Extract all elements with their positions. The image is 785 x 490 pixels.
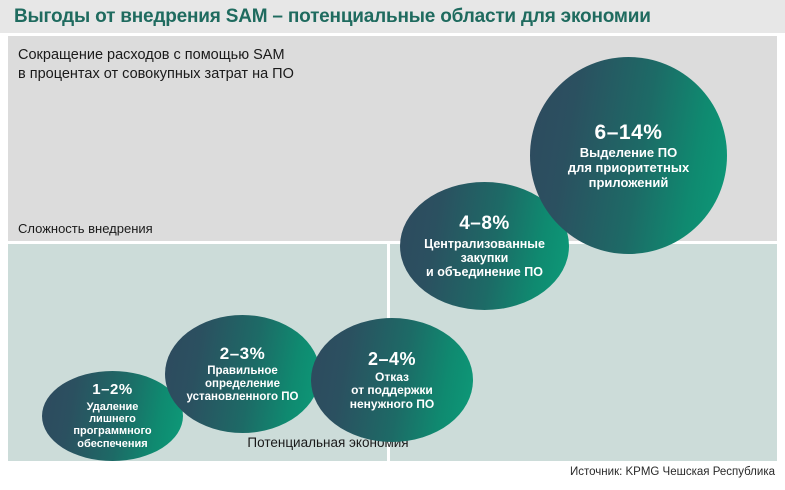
header-band: Выгоды от внедрения SAM – потенциальные …: [0, 0, 785, 33]
bubble-2-4-percent[interactable]: 2–4% Отказ от поддержки ненужного ПО: [311, 318, 473, 442]
chart-subtitle: Сокращение расходов с помощью SAM в проц…: [18, 46, 294, 84]
bubble-value: 1–2%: [73, 382, 151, 399]
bubble-value: 4–8%: [424, 213, 545, 234]
page-title: Выгоды от внедрения SAM – потенциальные …: [14, 6, 651, 28]
source-attribution: Источник: KPMG Чешская Республика: [570, 466, 775, 478]
bubble-text: 2–3% Правильное определение установленно…: [181, 344, 305, 404]
bubble-text: 1–2% Удаление лишнего программного обесп…: [67, 382, 157, 450]
bubble-label: Правильное определение установленного ПО: [187, 365, 299, 404]
bubble-label: Централизованные закупки и объединение П…: [424, 237, 545, 279]
bubble-text: 4–8% Централизованные закупки и объедине…: [418, 213, 551, 278]
bubble-value: 2–3%: [187, 344, 299, 363]
bubble-2-3-percent[interactable]: 2–3% Правильное определение установленно…: [165, 315, 320, 433]
infographic-root: Выгоды от внедрения SAM – потенциальные …: [0, 0, 785, 490]
y-axis-label: Сложность внедрения: [18, 221, 153, 236]
bubble-label: Удаление лишнего программного обеспечени…: [73, 401, 151, 450]
bubble-value: 6–14%: [568, 121, 689, 145]
bubble-6-14-percent[interactable]: 6–14% Выделение ПО для приоритетных прил…: [530, 57, 727, 254]
bubble-value: 2–4%: [350, 349, 435, 369]
bubble-label: Выделение ПО для приоритетных приложений: [568, 146, 689, 190]
bubble-label: Отказ от поддержки ненужного ПО: [350, 371, 435, 411]
bubble-text: 2–4% Отказ от поддержки ненужного ПО: [344, 349, 441, 411]
chart-plot-area: Сокращение расходов с помощью SAM в проц…: [8, 36, 777, 461]
bubble-text: 6–14% Выделение ПО для приоритетных прил…: [562, 121, 695, 190]
bubble-1-2-percent[interactable]: 1–2% Удаление лишнего программного обесп…: [42, 371, 183, 461]
